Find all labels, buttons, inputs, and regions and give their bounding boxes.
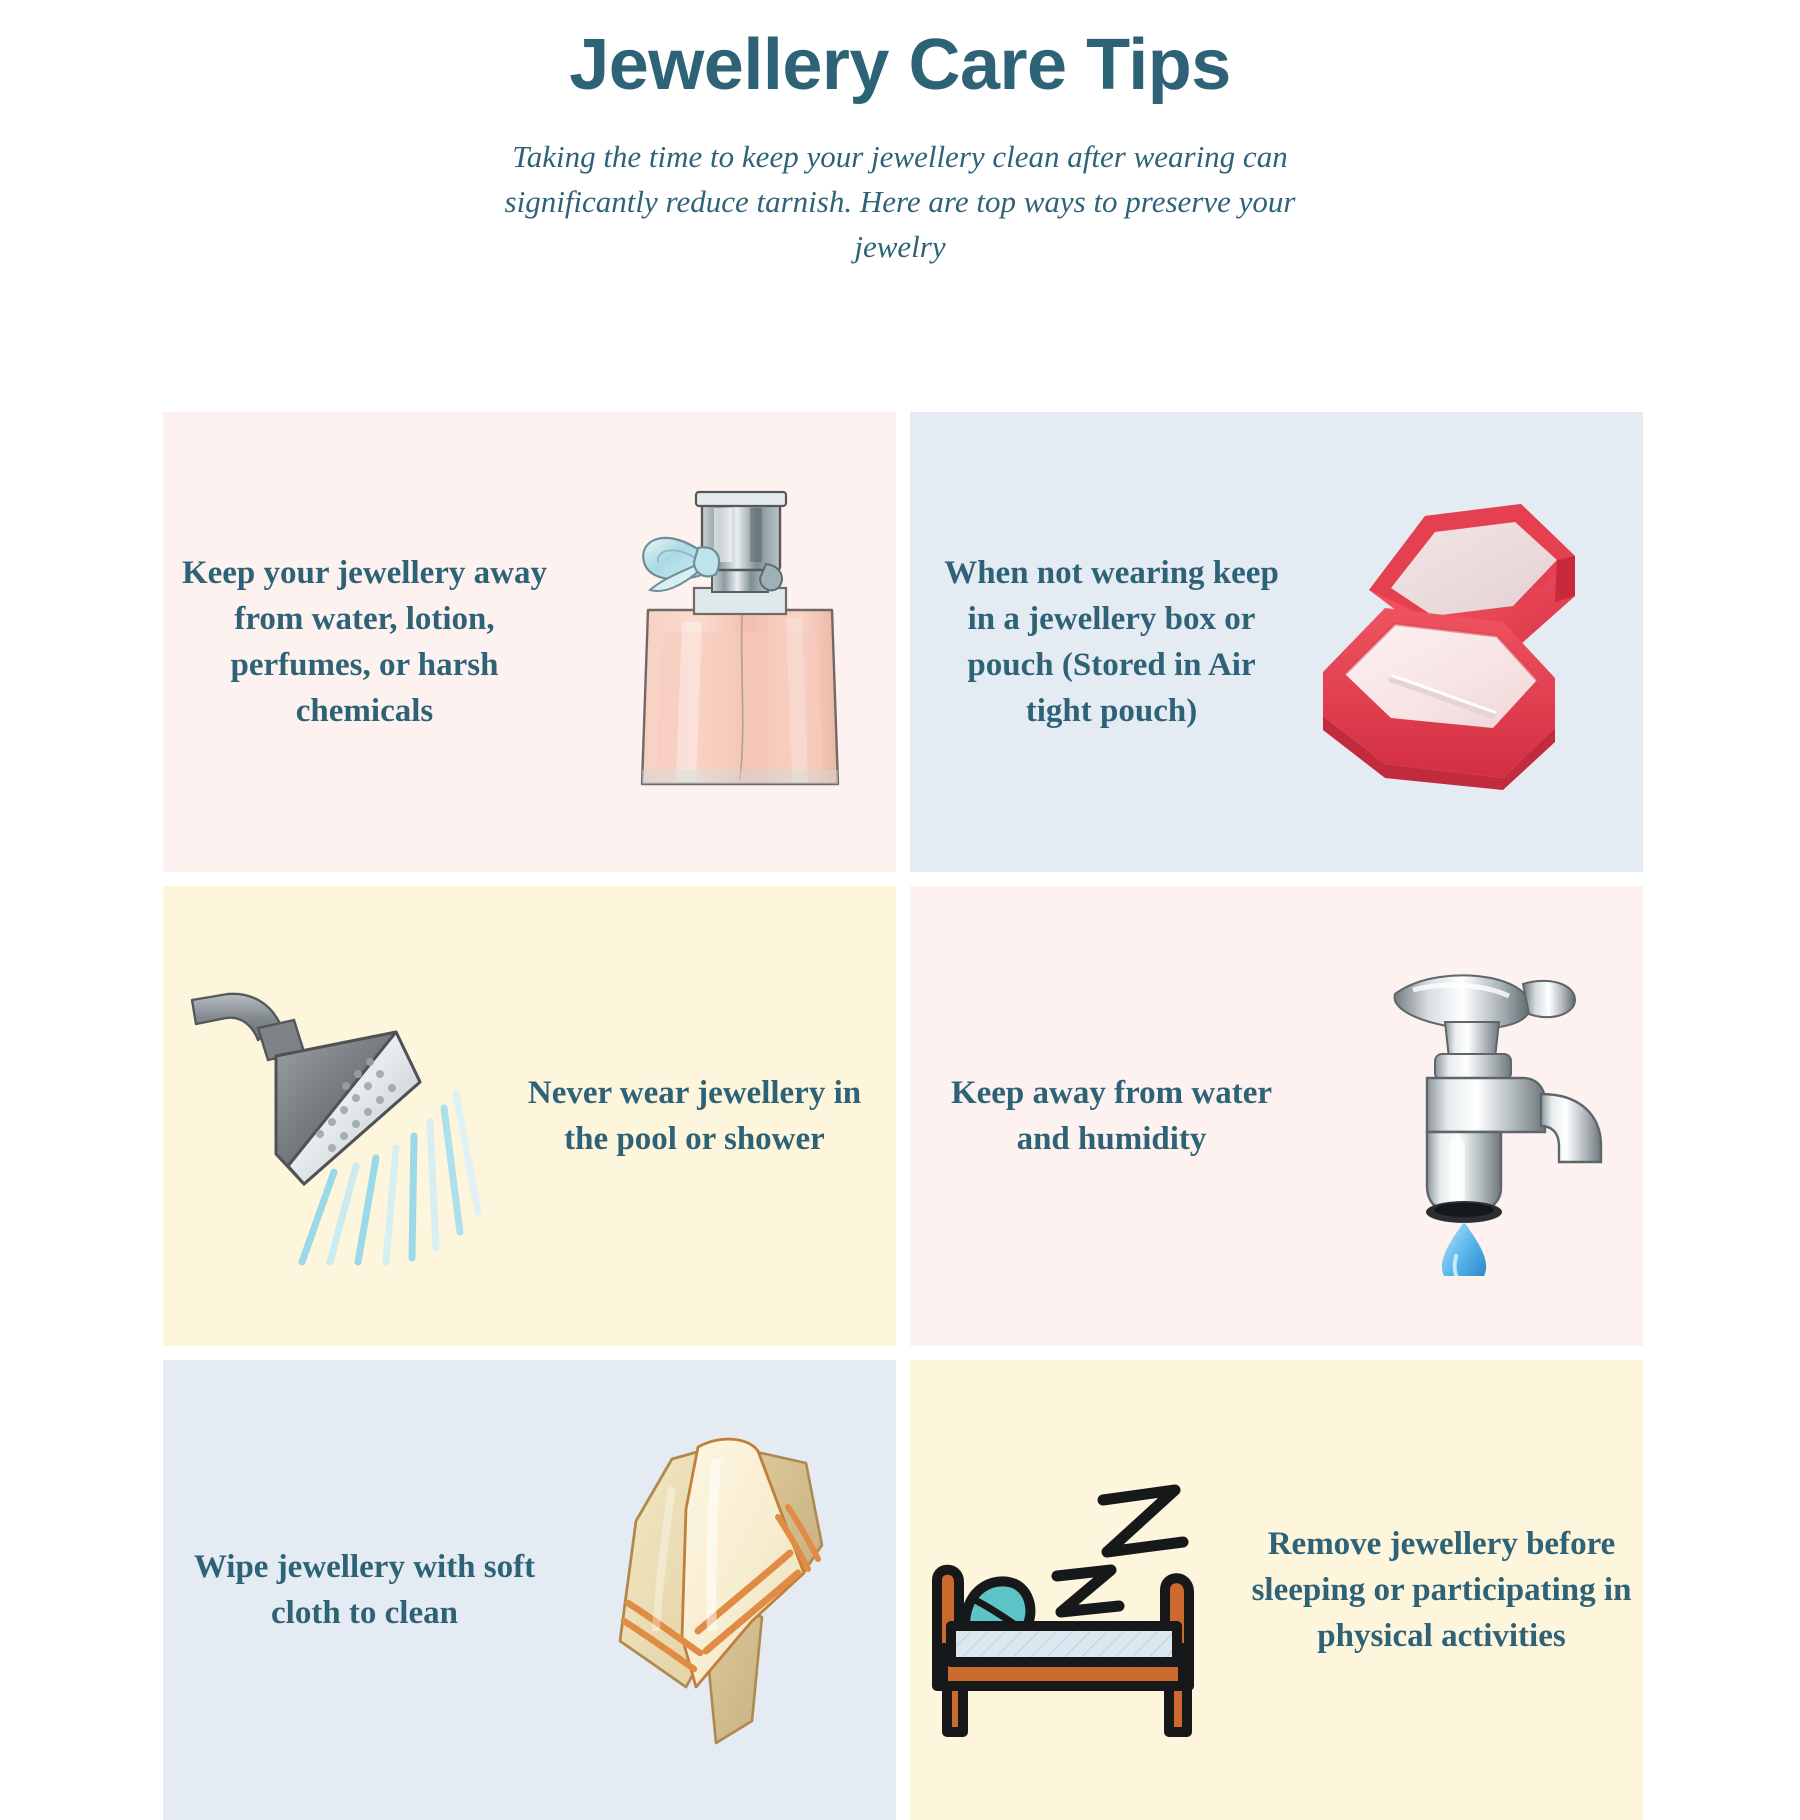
- tip-card-remove-before-sleeping: Remove jewellery before sleeping or part…: [910, 1360, 1643, 1820]
- tip-card-no-pool-or-shower: Never wear jewellery in the pool or show…: [163, 886, 896, 1346]
- page-subtitle: Taking the time to keep your jewellery c…: [500, 135, 1300, 270]
- page-title: Jewellery Care Tips: [0, 24, 1800, 107]
- bed-sleeping-icon: [910, 1425, 1232, 1755]
- tip-card-text: Wipe jewellery with soft cloth to clean: [169, 1544, 561, 1636]
- tip-card-text: Never wear jewellery in the pool or show…: [499, 1070, 891, 1162]
- shower-head-icon: [169, 951, 499, 1281]
- tip-card-text: When not wearing keep in a jewellery box…: [932, 550, 1292, 735]
- tips-grid: Keep your jewellery away from water, lot…: [163, 412, 1643, 1820]
- tip-card-text: Remove jewellery before sleeping or part…: [1232, 1521, 1644, 1660]
- header: Jewellery Care Tips Taking the time to k…: [0, 0, 1800, 270]
- tip-card-text: Keep your jewellery away from water, lot…: [163, 550, 575, 735]
- tip-card-text: Keep away from water and humidity: [916, 1070, 1308, 1162]
- faucet-icon: [1308, 951, 1638, 1281]
- tip-card-store-in-box: When not wearing keep in a jewellery box…: [910, 412, 1643, 872]
- infographic-page: Jewellery Care Tips Taking the time to k…: [0, 0, 1800, 1800]
- jewellery-box-icon: [1292, 477, 1622, 807]
- tip-card-away-from-chemicals: Keep your jewellery away from water, lot…: [163, 412, 896, 872]
- tip-card-wipe-with-cloth: Wipe jewellery with soft cloth to clean: [163, 1360, 896, 1820]
- tip-card-away-from-humidity: Keep away from water and humidity: [910, 886, 1643, 1346]
- cloth-icon: [561, 1425, 891, 1755]
- perfume-bottle-icon: [575, 477, 897, 807]
